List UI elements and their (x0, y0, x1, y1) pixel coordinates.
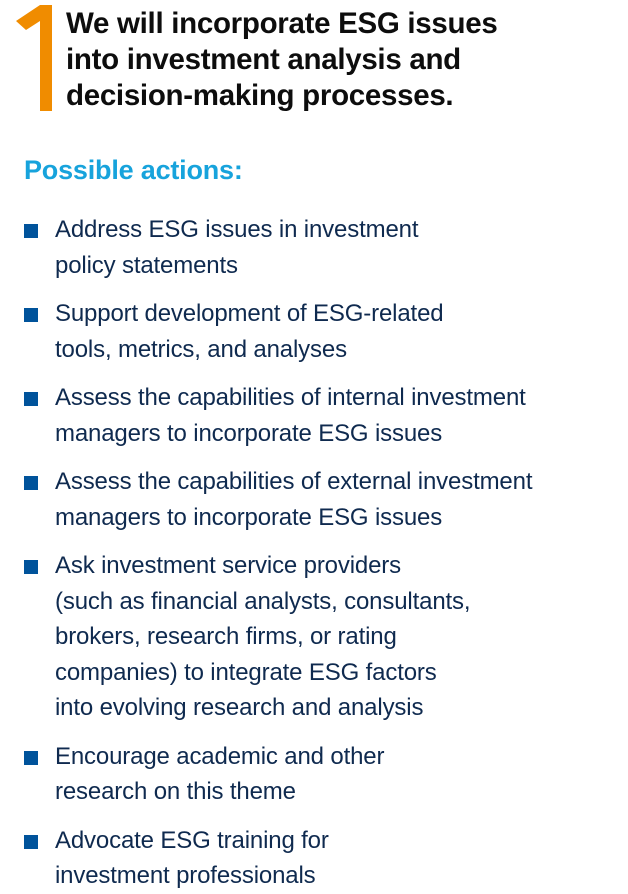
square-bullet-icon (24, 476, 38, 490)
list-item-line: companies) to integrate ESG factors (55, 655, 628, 691)
principle-header: We will incorporate ESG issues into inve… (0, 0, 628, 116)
principle-title-line: We will incorporate ESG issues (66, 6, 586, 42)
list-item: Support development of ESG-related tools… (24, 296, 628, 367)
list-item-line: Support development of ESG-related (55, 296, 628, 332)
square-bullet-icon (24, 751, 38, 765)
principle-title-line: into investment analysis and (66, 42, 586, 78)
possible-actions-list: Address ESG issues in investment policy … (0, 212, 628, 894)
list-item-line: managers to incorporate ESG issues (55, 416, 628, 452)
list-item: Address ESG issues in investment policy … (24, 212, 628, 283)
list-item-line: Assess the capabilities of external inve… (55, 464, 628, 500)
square-bullet-icon (24, 392, 38, 406)
list-item-line: managers to incorporate ESG issues (55, 500, 628, 536)
numeral-one-icon (14, 4, 60, 116)
square-bullet-icon (24, 224, 38, 238)
list-item: Encourage academic and other research on… (24, 739, 628, 810)
principle-title-line: decision-making processes. (66, 78, 586, 114)
list-item: Advocate ESG training for investment pro… (24, 823, 628, 894)
list-item-line: Assess the capabilities of internal inve… (55, 380, 628, 416)
square-bullet-icon (24, 835, 38, 849)
list-item-line: research on this theme (55, 774, 628, 810)
list-item-line: into evolving research and analysis (55, 690, 628, 726)
list-item-line: Encourage academic and other (55, 739, 628, 775)
principle-card: We will incorporate ESG issues into inve… (0, 0, 628, 826)
list-item: Assess the capabilities of external inve… (24, 464, 628, 535)
possible-actions-heading: Possible actions: (24, 154, 628, 186)
list-item-line: policy statements (55, 248, 628, 284)
list-item-line: Advocate ESG training for (55, 823, 628, 859)
list-item-line: Address ESG issues in investment (55, 212, 628, 248)
principle-title: We will incorporate ESG issues into inve… (66, 4, 586, 114)
list-item: Ask investment service providers (such a… (24, 548, 628, 726)
list-item-line: tools, metrics, and analyses (55, 332, 628, 368)
list-item: Assess the capabilities of internal inve… (24, 380, 628, 451)
square-bullet-icon (24, 308, 38, 322)
square-bullet-icon (24, 560, 38, 574)
list-item-line: Ask investment service providers (55, 548, 628, 584)
list-item-line: investment professionals (55, 858, 628, 894)
list-item-line: (such as financial analysts, consultants… (55, 584, 628, 620)
list-item-line: brokers, research firms, or rating (55, 619, 628, 655)
